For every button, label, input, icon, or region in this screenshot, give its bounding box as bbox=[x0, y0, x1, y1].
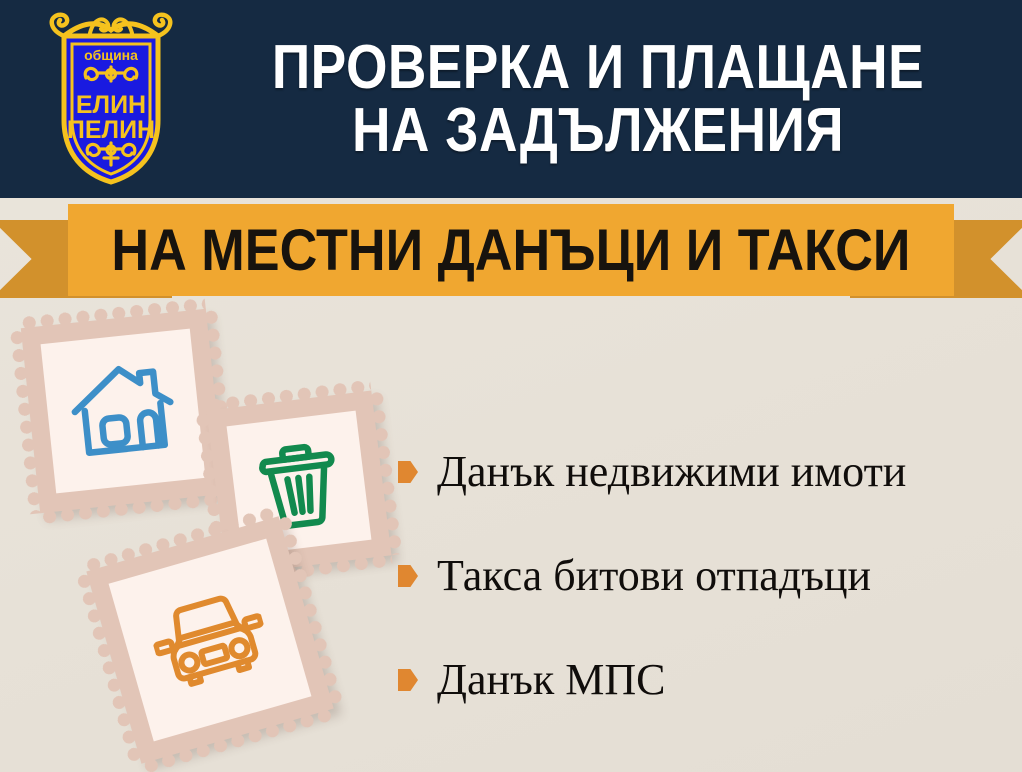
list-item-label: Данък недвижими имоти bbox=[437, 450, 906, 494]
arrow-bullet-icon bbox=[398, 669, 418, 691]
title-line-1: ПРОВЕРКА И ПЛАЩАНЕ bbox=[272, 36, 924, 99]
ribbon-banner: НА МЕСТНИ ДАНЪЦИ И ТАКСИ bbox=[68, 204, 954, 296]
list-item-label: Такса битови отпадъци bbox=[437, 554, 871, 598]
poster-canvas: община ЕЛИН ПЕЛИН bbox=[0, 0, 1022, 772]
scallop-top bbox=[205, 380, 371, 413]
list-item-label: Данък МПС bbox=[437, 658, 665, 702]
crest-svg: община ЕЛИН ПЕЛИН bbox=[42, 8, 180, 190]
crest-line-small: община bbox=[84, 47, 138, 63]
ribbon-label: НА МЕСТНИ ДАНЪЦИ И ТАКСИ bbox=[111, 217, 910, 284]
obligations-list: Данък недвижими имоти Такса битови отпад… bbox=[398, 420, 1010, 732]
scallop-bottom bbox=[40, 492, 226, 524]
coat-of-arms: община ЕЛИН ПЕЛИН bbox=[42, 8, 180, 190]
car-icon bbox=[143, 580, 276, 699]
page-title: ПРОВЕРКА И ПЛАЩАНЕ НА ЗАДЪЛЖЕНИЯ bbox=[244, 14, 953, 184]
scallop-left bbox=[10, 328, 42, 514]
header-bar: община ЕЛИН ПЕЛИН bbox=[0, 0, 1022, 198]
arrow-bullet-icon bbox=[398, 565, 418, 587]
stamp-card-house bbox=[21, 309, 225, 513]
stamp-card-house-inner bbox=[41, 329, 206, 494]
list-item[interactable]: Такса битови отпадъци bbox=[398, 524, 1010, 628]
list-item[interactable]: Данък недвижими имоти bbox=[398, 420, 1010, 524]
title-line-2: НА ЗАДЪЛЖЕНИЯ bbox=[352, 99, 844, 162]
crest-line-2: ПЕЛИН bbox=[67, 116, 155, 144]
house-icon bbox=[64, 356, 182, 467]
stamp-card-vehicle-inner bbox=[109, 539, 312, 742]
crest-line-1: ЕЛИН bbox=[76, 91, 146, 119]
subtitle-ribbon: НА МЕСТНИ ДАНЪЦИ И ТАКСИ bbox=[0, 198, 1022, 308]
list-item[interactable]: Данък МПС bbox=[398, 628, 1010, 732]
arrow-bullet-icon bbox=[398, 461, 418, 483]
